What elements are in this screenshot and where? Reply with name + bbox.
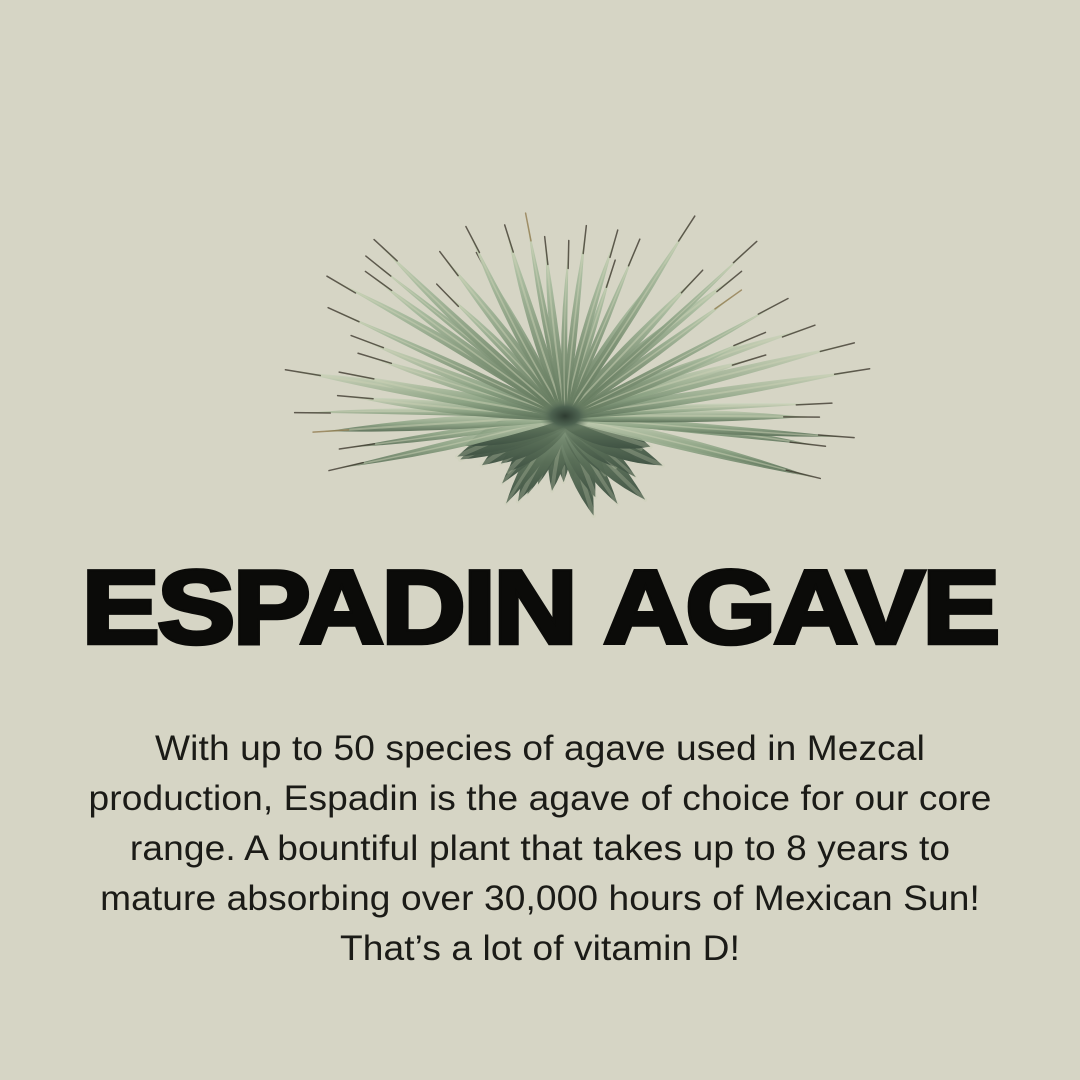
agave-leaf-spine-tip (339, 444, 374, 449)
agave-leaf-spine-tip (329, 463, 363, 471)
agave-leaf-spine-tip (820, 343, 854, 352)
description-line: range. A bountiful plant that takes up t… (63, 824, 1017, 874)
agave-leaf-spine-tip (629, 239, 640, 266)
agave-leaf-spine-tip (681, 270, 702, 293)
body-block: With up to 50 species of agave used in M… (90, 724, 990, 974)
agave-leaf-spine-tip (505, 225, 514, 252)
description-line: production, Espadin is the agave of choi… (63, 774, 1017, 824)
agave-leaf-spine-tip (733, 241, 756, 262)
agave-leaf-spine-tip (327, 276, 356, 293)
agave-leaf-group (285, 213, 869, 515)
agave-leaf-spine-tip (466, 227, 480, 253)
agave-leaf-spine-tip (526, 213, 531, 241)
agave-leaf-spine-tip (783, 325, 815, 337)
agave-info-card: ESPADIN AGAVE With up to 50 species of a… (0, 0, 1080, 1080)
agave-leaf-spine-tip (328, 308, 359, 322)
agave-leaf-spine-tip (285, 370, 320, 376)
description-line: That’s a lot of vitamin D! (63, 924, 1017, 974)
espadin-agave-plant-image (280, 94, 880, 534)
agave-leaf-spine-tip (835, 369, 870, 374)
agave-leaf-spine-tip (358, 353, 391, 363)
agave-leaf-spine-tip (366, 256, 391, 276)
agave-leaf-spine-tip (790, 442, 825, 446)
description-line: With up to 50 species of agave used in M… (63, 724, 1017, 774)
description-line: mature absorbing over 30,000 hours of Me… (63, 874, 1017, 924)
agave-rosette-core (539, 399, 591, 433)
agave-leaf-spine-tip (583, 226, 586, 254)
agave-leaf-spine-tip (351, 336, 383, 348)
agave-leaf-spine-tip (374, 240, 397, 261)
title-block: ESPADIN AGAVE (0, 556, 1080, 660)
agave-leaf-spine-tip (568, 240, 569, 268)
page-title: ESPADIN AGAVE (82, 556, 998, 660)
agave-leaf-spine-tip (679, 216, 695, 241)
agave-leaf-spine-tip (440, 252, 458, 276)
agave-rosette-illustration (280, 94, 880, 534)
agave-leaf-spine-tip (715, 290, 741, 309)
agave-leaf-spine-tip (610, 230, 618, 257)
agave-leaf-spine-tip (758, 299, 788, 315)
agave-leaf-spine-tip (786, 470, 820, 478)
description-paragraph: With up to 50 species of agave used in M… (63, 724, 1017, 974)
